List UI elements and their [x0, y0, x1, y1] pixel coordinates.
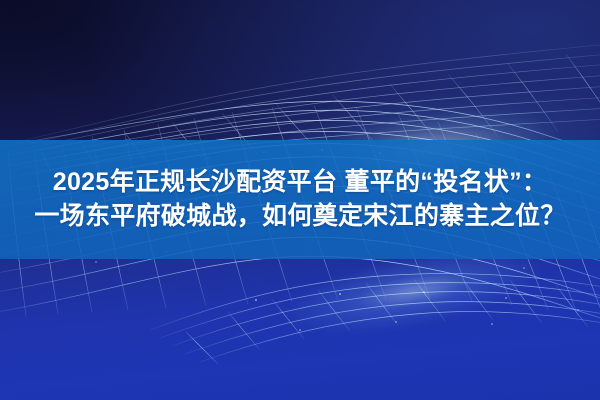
headline-line-1: 2025年正规长沙配资平台 董平的“投名状”： — [53, 168, 547, 198]
headline-line-2: 一场东平府破城战，如何奠定宋江的寨主之位？ — [34, 202, 565, 232]
banner-image: 2025年正规长沙配资平台 董平的“投名状”： 一场东平府破城战，如何奠定宋江的… — [0, 0, 600, 400]
headline-block: 2025年正规长沙配资平台 董平的“投名状”： 一场东平府破城战，如何奠定宋江的… — [0, 140, 600, 259]
